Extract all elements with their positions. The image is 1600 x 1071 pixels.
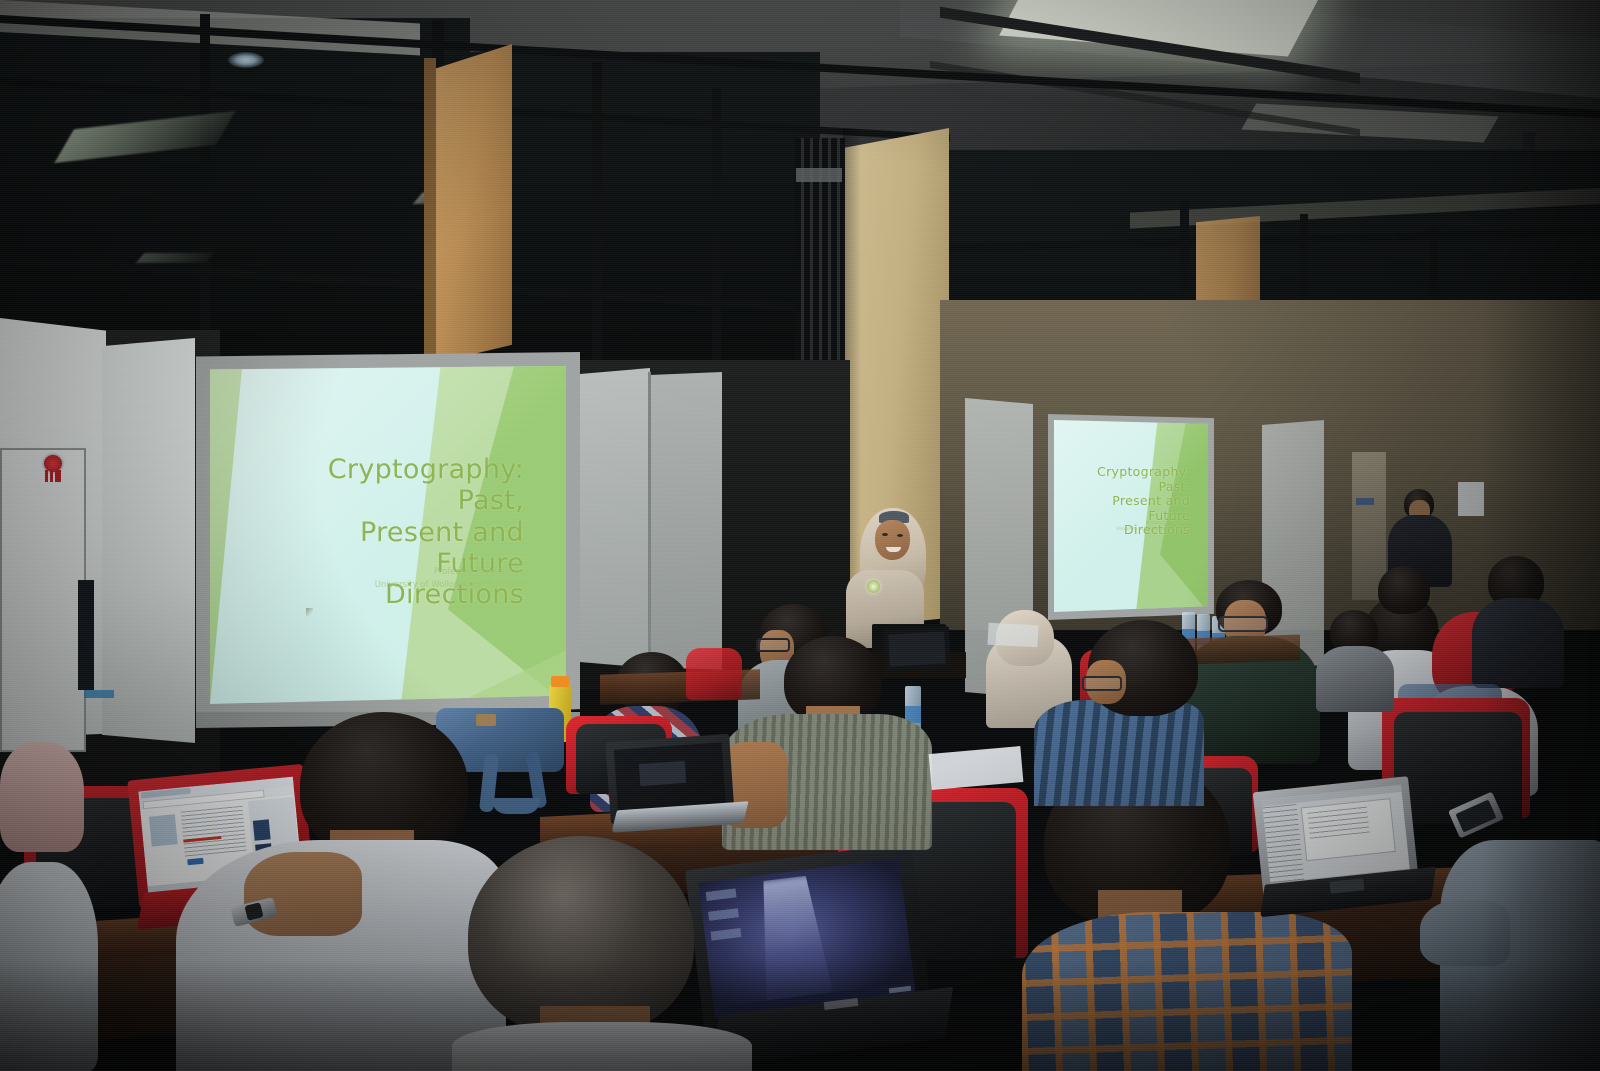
mullion-vertical-4 — [712, 88, 721, 388]
whiteboard-tray — [84, 690, 114, 698]
white-papers-2 — [987, 623, 1038, 648]
secondary-slide-subtitle: Professor Willy Susilo University of Wol… — [1078, 520, 1190, 533]
student-front-left-arm — [244, 852, 362, 936]
partition-clip-1 — [796, 168, 842, 182]
white-papers — [929, 746, 1024, 790]
secondary-slide-subtitle-line-2: University of Wollongong, Australia — [1078, 526, 1190, 532]
main-slide: Cryptography: Past, Present and Future D… — [210, 366, 566, 704]
denim-strap-loop — [492, 798, 540, 814]
whiteboard-front — [0, 448, 86, 752]
presenter-face — [875, 520, 910, 560]
presenter-eye-left — [882, 533, 888, 536]
chair-red-rear-2[interactable] — [686, 648, 742, 700]
student-far-left-hijab — [0, 742, 84, 852]
wall-panel-divider — [648, 372, 651, 670]
slide-subtitle: Professor Willy Susilo University of Wol… — [292, 566, 524, 592]
student-back-right2-hair — [1378, 566, 1430, 614]
glass-partition-upper-left — [0, 18, 470, 348]
secondary-slide-title-line-1: Cryptography: Past, — [1078, 465, 1190, 494]
secondary-projection-screen: Cryptography: Past, Present and Future D… — [1048, 414, 1214, 620]
slide-title-line-1: Cryptography: Past, — [292, 454, 524, 517]
right-edge-shadow — [1480, 0, 1600, 1071]
presenter-eye-right — [897, 534, 903, 537]
mullion-vertical-3 — [592, 62, 602, 372]
column-left-edge — [424, 58, 436, 358]
mullion-vertical-1 — [200, 14, 210, 344]
eyeglasses-icon — [1218, 616, 1268, 632]
door-sign — [1356, 498, 1374, 505]
wall-panel-gray-4 — [1262, 420, 1324, 670]
column-tan-left — [432, 44, 512, 364]
wall-panel-gray-1 — [580, 368, 650, 668]
light-reflection-3 — [136, 253, 214, 263]
denim-tag — [476, 714, 496, 726]
slide-cursor — [306, 608, 313, 617]
rosette-ribbons — [45, 470, 61, 482]
eyeglasses-icon-2 — [756, 638, 790, 652]
vaio-avatar-thumb — [149, 814, 178, 846]
silver-laptop-sidebar — [1263, 804, 1305, 885]
secondary-slide-title-line-2: Present and Future — [1078, 494, 1190, 523]
whiteboard-label-strip — [78, 580, 94, 690]
main-projection-screen: Cryptography: Past, Present and Future D… — [196, 352, 580, 724]
slide-subtitle-line-1: Professor Willy Susilo — [292, 566, 524, 579]
asus-desktop-icons[interactable] — [706, 888, 743, 949]
glass-partition-upper-mid — [460, 52, 820, 372]
slide-subtitle-line-2: University of Wollongong, Australia — [292, 579, 524, 592]
vaio-text-block — [181, 806, 247, 858]
student-rear-right-body — [1316, 646, 1394, 712]
secondary-slide: Cryptography: Past, Present and Future D… — [1054, 420, 1208, 612]
wall-panel-gray-2 — [650, 372, 722, 670]
student-blue-glasses-body — [1034, 700, 1204, 806]
eyeglasses-icon-3 — [1082, 676, 1122, 691]
foreground-shadow — [0, 960, 1600, 1071]
rear-laptop-screen[interactable] — [888, 632, 946, 667]
whiteboard-tall — [102, 338, 195, 743]
center-laptop-icons — [639, 761, 686, 786]
pin-badge — [867, 580, 880, 593]
vaio-sidebar-thumb-1 — [253, 819, 271, 840]
spot-reflection — [228, 52, 264, 68]
lecture-hall-photo: Cryptography: Past, Present and Future D… — [0, 0, 1600, 1071]
yellow-bottle-cap — [551, 676, 569, 687]
